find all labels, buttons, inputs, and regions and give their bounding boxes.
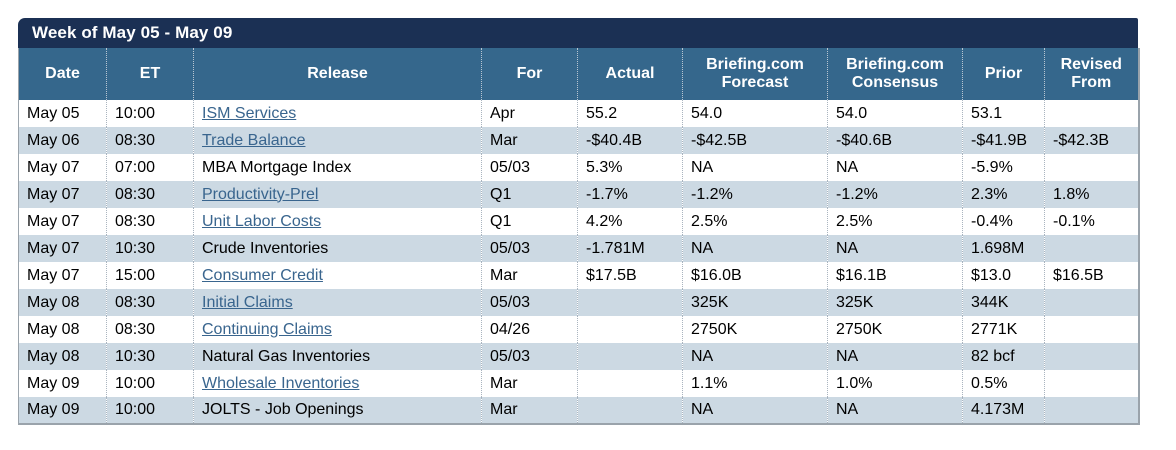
cell-actual <box>578 343 683 370</box>
cell-et: 08:30 <box>107 181 194 208</box>
cell-for: Apr <box>482 100 578 127</box>
cell-prior: 82 bcf <box>963 343 1045 370</box>
table-row: May 0810:30Natural Gas Inventories05/03N… <box>19 343 1139 370</box>
cell-actual: 55.2 <box>578 100 683 127</box>
cell-actual: 5.3% <box>578 154 683 181</box>
cell-consensus: NA <box>828 154 963 181</box>
cell-revised-from <box>1045 343 1139 370</box>
cell-revised-from <box>1045 154 1139 181</box>
cell-release[interactable]: Wholesale Inventories <box>194 370 482 397</box>
cell-et: 08:30 <box>107 208 194 235</box>
release-link[interactable]: Unit Labor Costs <box>202 213 321 230</box>
column-header-consensus[interactable]: Briefing.com Consensus <box>828 48 963 100</box>
release-text: Crude Inventories <box>202 240 328 257</box>
release-text: MBA Mortgage Index <box>202 159 351 176</box>
cell-actual: $17.5B <box>578 262 683 289</box>
cell-revised-from: $16.5B <box>1045 262 1139 289</box>
column-header-forecast[interactable]: Briefing.com Forecast <box>683 48 828 100</box>
cell-consensus: NA <box>828 343 963 370</box>
cell-consensus: 1.0% <box>828 370 963 397</box>
cell-release: Natural Gas Inventories <box>194 343 482 370</box>
cell-consensus: -$40.6B <box>828 127 963 154</box>
cell-release[interactable]: ISM Services <box>194 100 482 127</box>
cell-prior: 0.5% <box>963 370 1045 397</box>
column-header-revised-from[interactable]: Revised From <box>1045 48 1139 100</box>
cell-prior: -0.4% <box>963 208 1045 235</box>
cell-date: May 07 <box>19 208 107 235</box>
cell-consensus: 54.0 <box>828 100 963 127</box>
cell-forecast: 2.5% <box>683 208 828 235</box>
cell-prior: 53.1 <box>963 100 1045 127</box>
cell-et: 10:00 <box>107 370 194 397</box>
cell-actual <box>578 370 683 397</box>
release-link[interactable]: Initial Claims <box>202 294 293 311</box>
cell-revised-from: 1.8% <box>1045 181 1139 208</box>
cell-for: 05/03 <box>482 154 578 181</box>
table-body: May 0510:00ISM ServicesApr55.254.054.053… <box>19 100 1139 424</box>
cell-date: May 09 <box>19 397 107 424</box>
column-header-et[interactable]: ET <box>107 48 194 100</box>
cell-revised-from <box>1045 316 1139 343</box>
cell-for: 05/03 <box>482 235 578 262</box>
table-row: May 0708:30Unit Labor CostsQ14.2%2.5%2.5… <box>19 208 1139 235</box>
column-header-for[interactable]: For <box>482 48 578 100</box>
cell-date: May 05 <box>19 100 107 127</box>
cell-actual <box>578 397 683 424</box>
cell-prior: 2771K <box>963 316 1045 343</box>
cell-revised-from <box>1045 370 1139 397</box>
column-header-prior[interactable]: Prior <box>963 48 1045 100</box>
table-header: Date ET Release For Actual Briefing.com … <box>19 48 1139 100</box>
cell-for: Mar <box>482 262 578 289</box>
column-header-actual[interactable]: Actual <box>578 48 683 100</box>
cell-date: May 07 <box>19 181 107 208</box>
table-row: May 0808:30Continuing Claims04/262750K27… <box>19 316 1139 343</box>
cell-et: 15:00 <box>107 262 194 289</box>
cell-forecast: NA <box>683 154 828 181</box>
cell-for: Q1 <box>482 208 578 235</box>
cell-date: May 07 <box>19 262 107 289</box>
cell-prior: -$41.9B <box>963 127 1045 154</box>
cell-date: May 07 <box>19 235 107 262</box>
release-link[interactable]: Continuing Claims <box>202 321 332 338</box>
cell-forecast: 325K <box>683 289 828 316</box>
release-link[interactable]: Trade Balance <box>202 132 305 149</box>
cell-release: MBA Mortgage Index <box>194 154 482 181</box>
cell-for: 05/03 <box>482 289 578 316</box>
cell-date: May 08 <box>19 289 107 316</box>
cell-date: May 09 <box>19 370 107 397</box>
cell-for: Mar <box>482 127 578 154</box>
economic-calendar-table: Date ET Release For Actual Briefing.com … <box>18 48 1140 425</box>
cell-for: 04/26 <box>482 316 578 343</box>
cell-date: May 08 <box>19 343 107 370</box>
cell-actual <box>578 289 683 316</box>
cell-et: 08:30 <box>107 316 194 343</box>
economic-calendar: Week of May 05 - May 09 Date ET Release … <box>18 18 1138 425</box>
cell-forecast: 1.1% <box>683 370 828 397</box>
cell-revised-from: -$42.3B <box>1045 127 1139 154</box>
cell-date: May 06 <box>19 127 107 154</box>
cell-revised-from <box>1045 397 1139 424</box>
cell-forecast: NA <box>683 397 828 424</box>
cell-forecast: 54.0 <box>683 100 828 127</box>
header-row: Date ET Release For Actual Briefing.com … <box>19 48 1139 100</box>
cell-actual: -1.781M <box>578 235 683 262</box>
cell-forecast: NA <box>683 235 828 262</box>
cell-et: 10:00 <box>107 100 194 127</box>
cell-prior: 4.173M <box>963 397 1045 424</box>
cell-revised-from <box>1045 289 1139 316</box>
cell-consensus: 325K <box>828 289 963 316</box>
cell-prior: 344K <box>963 289 1045 316</box>
cell-et: 10:00 <box>107 397 194 424</box>
cell-consensus: NA <box>828 235 963 262</box>
cell-prior: -5.9% <box>963 154 1045 181</box>
cell-et: 08:30 <box>107 127 194 154</box>
cell-forecast: -1.2% <box>683 181 828 208</box>
cell-consensus: NA <box>828 397 963 424</box>
cell-actual: 4.2% <box>578 208 683 235</box>
cell-et: 10:30 <box>107 343 194 370</box>
calendar-title-bar: Week of May 05 - May 09 <box>18 18 1138 48</box>
cell-release: JOLTS - Job Openings <box>194 397 482 424</box>
cell-for: Q1 <box>482 181 578 208</box>
release-link[interactable]: Consumer Credit <box>202 267 323 284</box>
cell-revised-from: -0.1% <box>1045 208 1139 235</box>
table-row: May 0808:30Initial Claims05/03325K325K34… <box>19 289 1139 316</box>
cell-consensus: 2.5% <box>828 208 963 235</box>
table-row: May 0710:30Crude Inventories05/03-1.781M… <box>19 235 1139 262</box>
cell-et: 08:30 <box>107 289 194 316</box>
cell-forecast: NA <box>683 343 828 370</box>
cell-prior: $13.0 <box>963 262 1045 289</box>
cell-forecast: -$42.5B <box>683 127 828 154</box>
cell-release[interactable]: Consumer Credit <box>194 262 482 289</box>
cell-prior: 2.3% <box>963 181 1045 208</box>
cell-release[interactable]: Trade Balance <box>194 127 482 154</box>
cell-for: Mar <box>482 370 578 397</box>
table-row: May 0510:00ISM ServicesApr55.254.054.053… <box>19 100 1139 127</box>
cell-forecast: $16.0B <box>683 262 828 289</box>
cell-prior: 1.698M <box>963 235 1045 262</box>
cell-for: Mar <box>482 397 578 424</box>
cell-revised-from <box>1045 235 1139 262</box>
cell-release[interactable]: Continuing Claims <box>194 316 482 343</box>
cell-forecast: 2750K <box>683 316 828 343</box>
release-link[interactable]: Productivity-Prel <box>202 186 318 203</box>
cell-consensus: $16.1B <box>828 262 963 289</box>
table-row: May 0715:00Consumer CreditMar$17.5B$16.0… <box>19 262 1139 289</box>
release-text: Natural Gas Inventories <box>202 348 370 365</box>
release-text: JOLTS - Job Openings <box>202 401 364 418</box>
cell-for: 05/03 <box>482 343 578 370</box>
release-link[interactable]: ISM Services <box>202 105 296 122</box>
cell-et: 10:30 <box>107 235 194 262</box>
cell-revised-from <box>1045 100 1139 127</box>
cell-actual: -1.7% <box>578 181 683 208</box>
table-row: May 0608:30Trade BalanceMar-$40.4B-$42.5… <box>19 127 1139 154</box>
cell-consensus: 2750K <box>828 316 963 343</box>
table-row: May 0707:00MBA Mortgage Index05/035.3%NA… <box>19 154 1139 181</box>
cell-release[interactable]: Productivity-Prel <box>194 181 482 208</box>
cell-et: 07:00 <box>107 154 194 181</box>
cell-release[interactable]: Initial Claims <box>194 289 482 316</box>
cell-date: May 08 <box>19 316 107 343</box>
table-row: May 0708:30Productivity-PrelQ1-1.7%-1.2%… <box>19 181 1139 208</box>
column-header-date[interactable]: Date <box>19 48 107 100</box>
cell-actual: -$40.4B <box>578 127 683 154</box>
cell-release: Crude Inventories <box>194 235 482 262</box>
cell-actual <box>578 316 683 343</box>
release-link[interactable]: Wholesale Inventories <box>202 375 359 392</box>
table-row: May 0910:00JOLTS - Job OpeningsMarNANA4.… <box>19 397 1139 424</box>
column-header-release[interactable]: Release <box>194 48 482 100</box>
table-row: May 0910:00Wholesale InventoriesMar1.1%1… <box>19 370 1139 397</box>
cell-date: May 07 <box>19 154 107 181</box>
cell-consensus: -1.2% <box>828 181 963 208</box>
cell-release[interactable]: Unit Labor Costs <box>194 208 482 235</box>
